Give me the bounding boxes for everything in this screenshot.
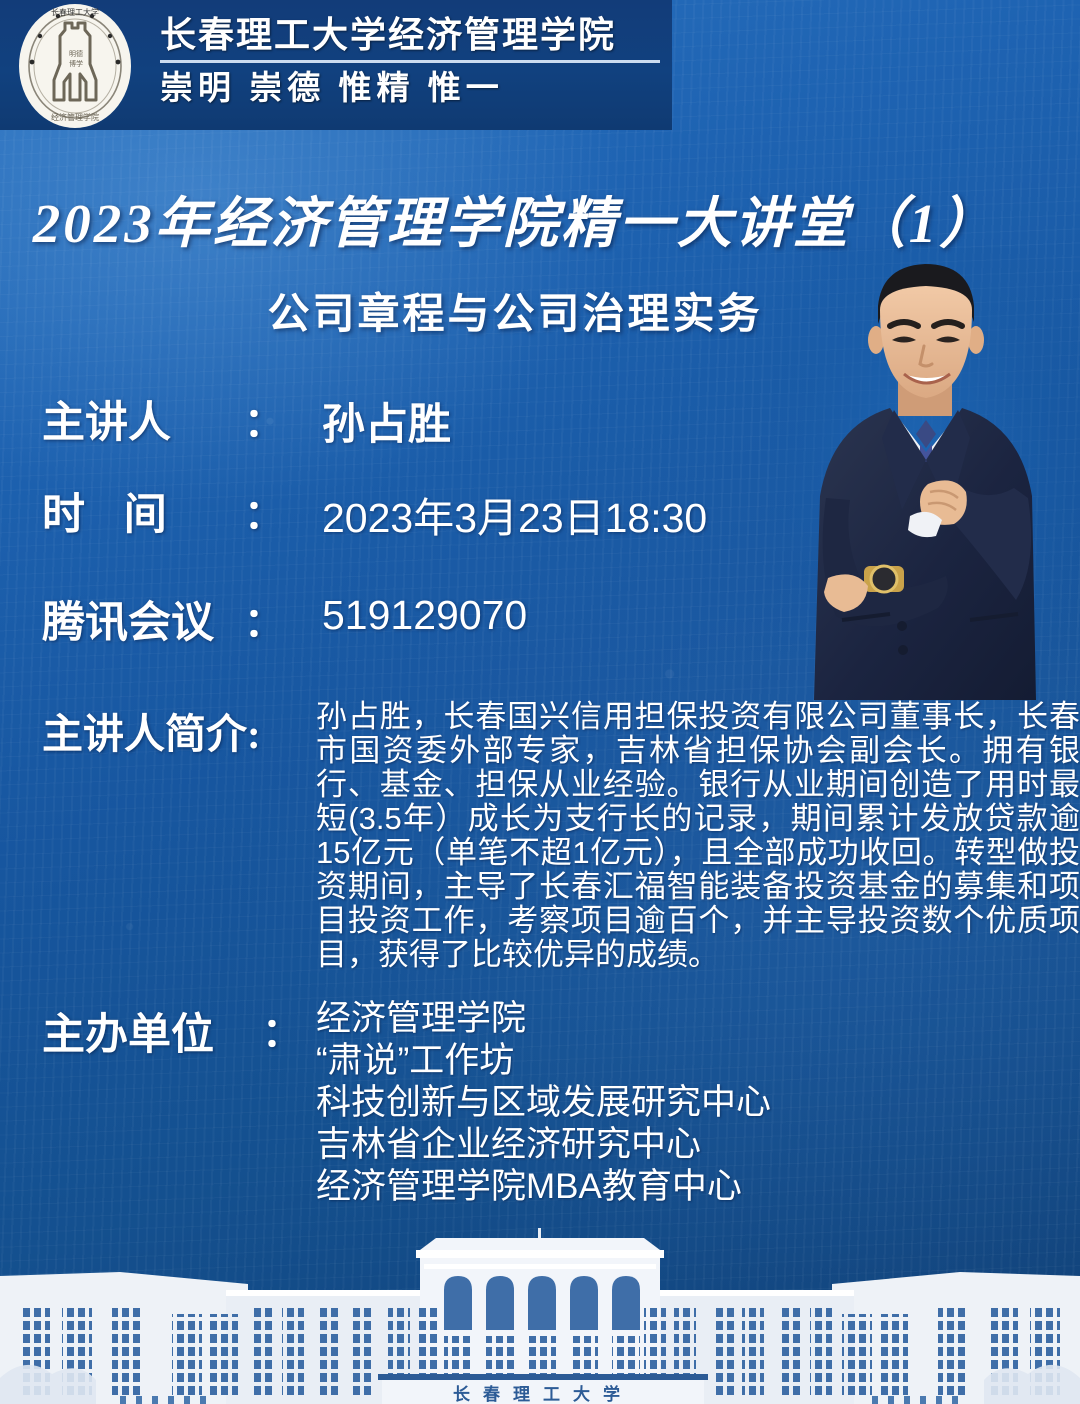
time-colon: ： bbox=[244, 482, 284, 540]
speaker-value: 孙占胜 bbox=[322, 390, 451, 452]
meeting-label: 腾讯会议 bbox=[42, 588, 214, 650]
meeting-value: 519129070 bbox=[322, 592, 527, 639]
university-emblem-icon: 明德 博学 长春理工大学 经济管理学院 bbox=[10, 2, 140, 130]
list-item: “肃说”工作坊 bbox=[316, 1040, 771, 1082]
list-item: 科技创新与区域发展研究中心 bbox=[316, 1082, 771, 1124]
time-label: 时 间 bbox=[42, 480, 181, 542]
svg-text:明德: 明德 bbox=[69, 49, 83, 58]
speaker-label: 主讲人 bbox=[42, 388, 171, 450]
svg-text:经济管理学院: 经济管理学院 bbox=[51, 112, 99, 122]
list-item: 吉林省企业经济研究中心 bbox=[316, 1124, 771, 1166]
list-item: 经济管理学院 bbox=[316, 998, 771, 1040]
speaker-colon: ： bbox=[244, 390, 284, 448]
organizer-label: 主办单位 bbox=[42, 1000, 214, 1062]
header-divider bbox=[160, 60, 660, 63]
meeting-colon: ： bbox=[244, 590, 284, 648]
bio-label: 主讲人简介: bbox=[42, 700, 261, 760]
poster-root: 明德 博学 长春理工大学 经济管理学院 长春理工大学经济管理学院 崇明 崇德 惟… bbox=[0, 0, 1080, 1404]
svg-text:博学: 博学 bbox=[69, 59, 83, 68]
page-subtitle: 公司章程与公司治理实务 bbox=[0, 280, 1030, 341]
school-name: 长春理工大学经济管理学院 bbox=[160, 12, 665, 58]
page-title: 2023年经济管理学院精一大讲堂（1） bbox=[0, 178, 1030, 258]
university-building-illustration: 长春理工大学 bbox=[0, 1228, 1080, 1404]
svg-text:长春理工大学: 长春理工大学 bbox=[51, 7, 99, 17]
list-item: 经济管理学院MBA教育中心 bbox=[316, 1166, 771, 1208]
organizer-list: 经济管理学院 “肃说”工作坊 科技创新与区域发展研究中心 吉林省企业经济研究中心… bbox=[316, 998, 771, 1208]
school-motto: 崇明 崇德 惟精 惟一 bbox=[160, 67, 665, 111]
bio-text: 孙占胜，长春国兴信用担保投资有限公司董事长，长春市国资委外部专家，吉林省担保协会… bbox=[316, 700, 1080, 972]
school-name-block: 长春理工大学经济管理学院 崇明 崇德 惟精 惟一 bbox=[160, 12, 665, 111]
time-value: 2023年3月23日18:30 bbox=[322, 484, 707, 544]
building-name: 长春理工大学 bbox=[453, 1384, 633, 1404]
organizer-colon: ： bbox=[262, 1000, 302, 1058]
